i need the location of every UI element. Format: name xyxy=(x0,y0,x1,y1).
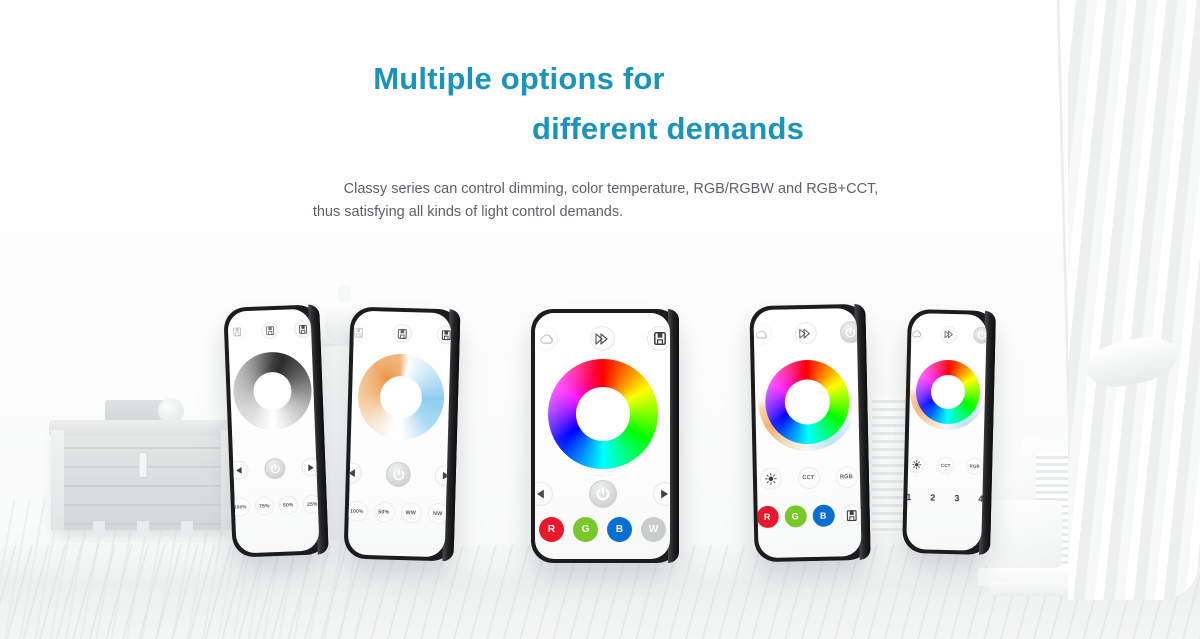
green-button[interactable]: G xyxy=(573,517,598,542)
next-button[interactable] xyxy=(653,482,671,506)
triangle-left-icon xyxy=(536,489,545,499)
mode-button[interactable] xyxy=(753,323,771,345)
preset-button-50[interactable]: 50% xyxy=(373,501,395,523)
power-icon xyxy=(845,327,856,338)
preset-button-100[interactable]: 100% xyxy=(348,500,368,522)
rgb-button[interactable]: RGB xyxy=(966,457,983,474)
zone-save-2-button[interactable] xyxy=(261,322,279,340)
rgb-cct-zone-remote[interactable]: CCT RGB 1 2 3 4 xyxy=(902,309,996,555)
zone-save-2-button[interactable] xyxy=(393,324,413,344)
fast-forward-icon xyxy=(595,333,610,345)
mode-button[interactable] xyxy=(535,326,558,351)
speed-button[interactable] xyxy=(794,322,816,344)
zone-button-1[interactable]: 1 xyxy=(906,490,915,503)
function-button-row xyxy=(911,325,986,344)
cloud-mode-icon xyxy=(539,333,553,345)
function-button-row xyxy=(535,326,670,351)
floppy-save-icon xyxy=(846,510,856,521)
color-button-row: R G B xyxy=(758,504,861,528)
triangle-left-icon xyxy=(235,466,242,474)
remote-face: R G B W xyxy=(535,313,670,559)
remote-face: CCT RGB R G B xyxy=(753,308,861,558)
wheel-center[interactable] xyxy=(379,375,422,418)
preset-button-75[interactable]: 75% xyxy=(255,496,275,516)
wheel-center[interactable] xyxy=(576,387,630,441)
preset-row: 100% 50% WW NW xyxy=(349,501,447,525)
sun-icon xyxy=(764,473,776,485)
blue-button[interactable]: B xyxy=(607,517,632,542)
triangle-left-icon xyxy=(348,468,356,477)
rgb-cct-remote[interactable]: CCT RGB R G B xyxy=(749,304,870,562)
red-button[interactable]: R xyxy=(756,506,778,528)
triangle-right-icon xyxy=(307,463,314,471)
zone-save-1-button[interactable] xyxy=(228,323,246,341)
power-button[interactable] xyxy=(386,462,412,488)
screen-glare xyxy=(906,313,987,551)
rgb-color-wheel[interactable] xyxy=(548,359,658,469)
dimming-remote[interactable]: 100% 75% 50% 25% xyxy=(223,304,329,558)
rgb-color-wheel-ring[interactable] xyxy=(548,359,658,469)
zone-button-3[interactable]: 3 xyxy=(950,491,963,504)
save-button[interactable] xyxy=(840,504,862,526)
rgb-cct-wheel[interactable] xyxy=(909,353,987,431)
cloud-mode-icon xyxy=(754,328,766,339)
wheel-center[interactable] xyxy=(784,379,830,425)
preset-button-ww[interactable]: WW xyxy=(400,502,422,524)
floppy-save-icon xyxy=(354,327,363,337)
floppy-save-icon xyxy=(298,325,306,334)
power-icon xyxy=(977,331,986,340)
preset-button-50[interactable]: 50% xyxy=(278,495,298,515)
green-button[interactable]: G xyxy=(784,505,806,527)
dimming-wheel[interactable] xyxy=(231,351,312,432)
triangle-right-icon xyxy=(660,489,669,499)
brightness-button[interactable] xyxy=(908,456,925,473)
remote-face: CCT RGB 1 2 3 4 xyxy=(906,313,987,551)
power-icon xyxy=(270,463,280,473)
power-icon xyxy=(596,487,610,501)
sun-icon xyxy=(912,460,921,469)
preset-row: 100% 75% 50% 25% xyxy=(235,494,319,516)
cloud-mode-icon xyxy=(911,329,921,338)
wheel-center[interactable] xyxy=(252,371,291,410)
zone-button-row xyxy=(354,323,451,345)
red-button[interactable]: R xyxy=(539,517,564,542)
remote-face: 100% 75% 50% 25% xyxy=(227,309,319,554)
wheel-center[interactable] xyxy=(930,375,965,410)
rgb-cct-wheel[interactable] xyxy=(757,352,857,452)
rgbw-remote[interactable]: R G B W xyxy=(531,309,679,563)
power-button[interactable] xyxy=(589,480,617,508)
remote-face: 100% 50% WW NW xyxy=(348,311,452,558)
zone-save-3-button[interactable] xyxy=(294,321,312,339)
dimming-wheel-ring[interactable] xyxy=(231,351,312,432)
speed-button[interactable] xyxy=(940,326,957,343)
mode-button[interactable] xyxy=(907,325,924,342)
function-button-row xyxy=(754,321,857,345)
save-button[interactable] xyxy=(647,326,670,351)
preset-button-25[interactable]: 25% xyxy=(302,494,319,514)
floppy-save-icon xyxy=(654,332,666,345)
zone-button-row xyxy=(228,321,312,341)
remote-lineup: 100% 75% 50% 25% xyxy=(0,0,1200,639)
preset-button-100[interactable]: 100% xyxy=(231,497,251,517)
cct-wheel[interactable] xyxy=(356,353,444,441)
color-button-row: R G B W xyxy=(535,517,670,542)
brightness-button[interactable] xyxy=(759,468,781,490)
floppy-save-icon xyxy=(232,327,240,336)
navigation-row xyxy=(350,461,448,489)
zone-save-3-button[interactable] xyxy=(437,325,452,345)
previous-button[interactable] xyxy=(348,462,363,484)
cct-button[interactable]: CCT xyxy=(797,467,819,489)
previous-button[interactable] xyxy=(535,482,553,506)
white-button[interactable]: W xyxy=(641,517,666,542)
navigation-row xyxy=(233,456,317,480)
floppy-save-icon xyxy=(442,330,451,340)
zone-button-2[interactable]: 2 xyxy=(926,490,939,503)
page-root: Multiple options for different demands C… xyxy=(0,0,1200,639)
rgb-button[interactable]: RGB xyxy=(835,466,857,488)
blue-button[interactable]: B xyxy=(812,505,834,527)
zone-save-1-button[interactable] xyxy=(349,322,369,342)
power-button[interactable] xyxy=(973,327,987,344)
navigation-row xyxy=(535,480,670,508)
power-button[interactable] xyxy=(264,458,286,480)
color-temperature-remote[interactable]: 100% 50% WW NW xyxy=(344,307,461,562)
floppy-save-icon xyxy=(398,328,407,338)
cct-wheel-ring[interactable] xyxy=(356,353,444,441)
mode-row: CCT RGB xyxy=(757,466,860,490)
cct-button[interactable]: CCT xyxy=(937,457,954,474)
floppy-save-icon xyxy=(265,326,273,335)
speed-button[interactable] xyxy=(590,326,615,351)
power-icon xyxy=(392,468,404,480)
fast-forward-icon xyxy=(944,330,954,339)
zone-row: 1 2 3 4 xyxy=(907,490,982,505)
fast-forward-icon xyxy=(799,327,812,338)
previous-button[interactable] xyxy=(229,460,249,480)
mode-row: CCT RGB xyxy=(908,456,983,475)
preset-button-nw[interactable]: NW xyxy=(427,503,449,525)
